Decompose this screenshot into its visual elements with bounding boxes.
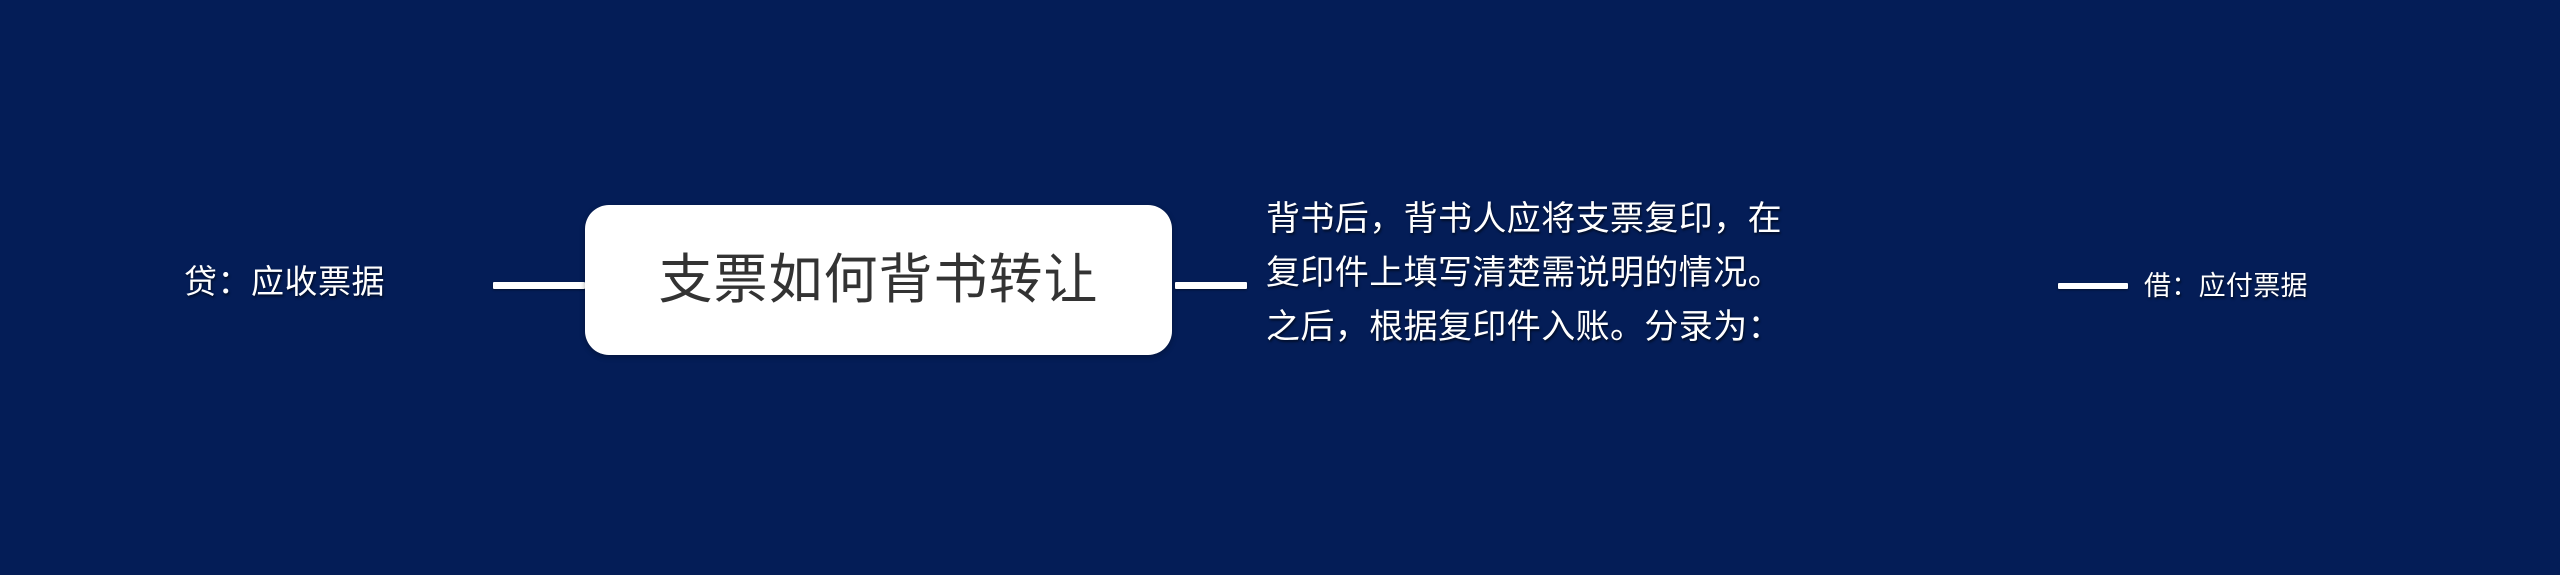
root-node[interactable]: 支票如何背书转让 (585, 205, 1172, 355)
branch-paragraph-line-1: 背书后，背书人应将支票复印，在 (1266, 192, 2006, 246)
root-node-label: 支票如何背书转让 (659, 248, 1099, 312)
mindmap-canvas: 贷：应收票据 支票如何背书转让 背书后，背书人应将支票复印，在 复印件上填写清楚… (0, 0, 2560, 575)
connector-left-branch-line (493, 282, 585, 289)
branch-label-right-tail[interactable]: 借：应付票据 (2144, 269, 2308, 303)
connector-right-tail-line (2058, 283, 2128, 289)
connector-right-branch-line (1175, 282, 1247, 289)
branch-paragraph-line-2: 复印件上填写清楚需说明的情况。 (1266, 246, 2006, 300)
branch-paragraph-line-3: 之后，根据复印件入账。分录为： (1266, 300, 2006, 354)
branch-paragraph-right[interactable]: 背书后，背书人应将支票复印，在 复印件上填写清楚需说明的情况。 之后，根据复印件… (1266, 192, 2006, 354)
branch-label-left[interactable]: 贷：应收票据 (184, 261, 385, 303)
